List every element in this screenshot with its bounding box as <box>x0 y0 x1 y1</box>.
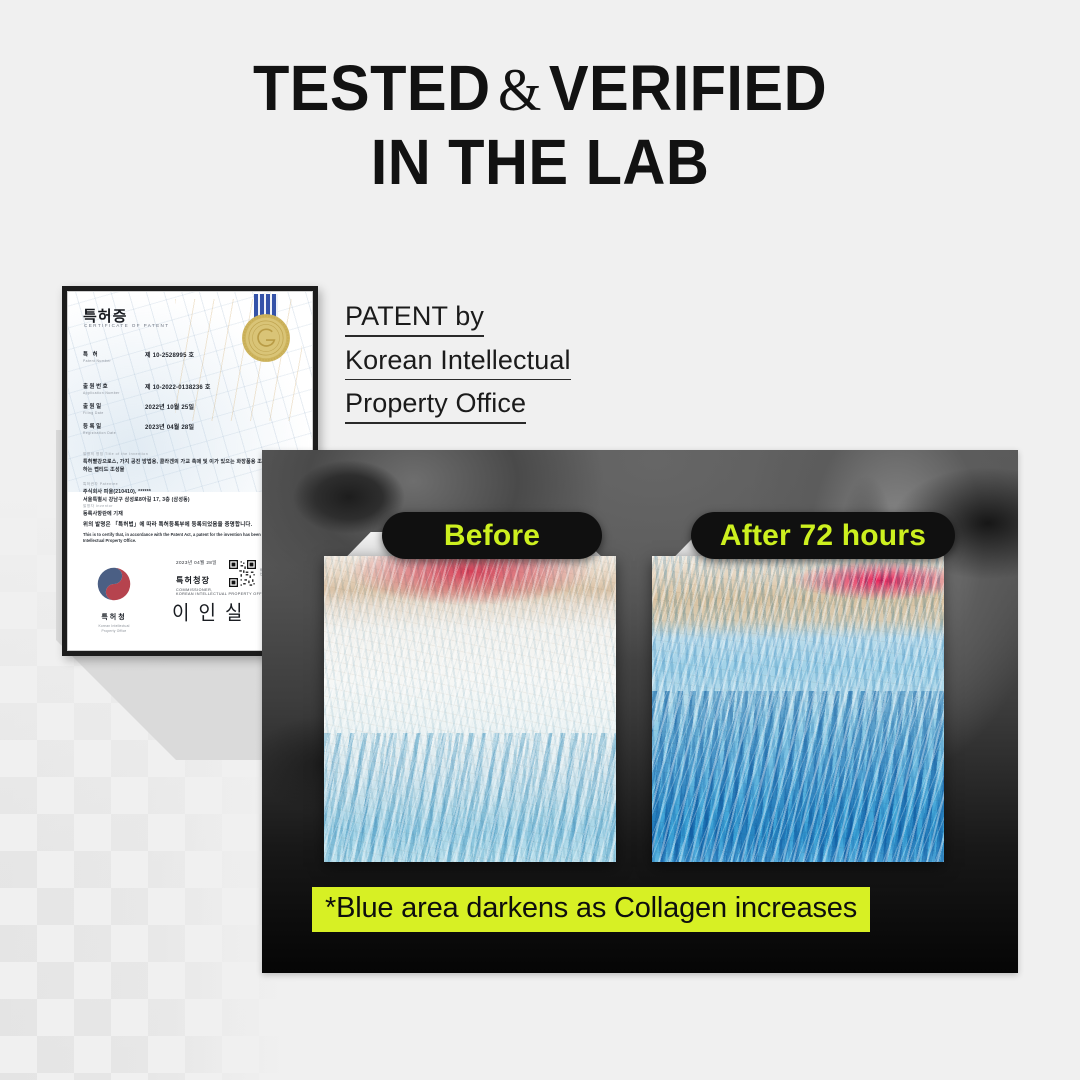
field-label-en: Patent Number <box>83 359 111 363</box>
patent-caption-line-2: Korean Intellectual <box>345 344 571 381</box>
headline-line-2: IN THE LAB <box>38 126 1042 198</box>
kipo-name-english: Korean Intellectual Property Office <box>94 624 134 633</box>
patent-caption: PATENT by Korean Intellectual Property O… <box>345 300 571 431</box>
certificate-field-row: 출원번호 Application Number 제 10-2022-013823… <box>83 382 120 395</box>
gold-seal-icon <box>240 312 292 364</box>
commissioner-title-en-2: KOREAN INTELLECTUAL PROPERTY OFFICE <box>176 592 269 596</box>
field-label-en: Application Number <box>83 391 120 395</box>
field-value-registration-date: 2023년 04월 28일 <box>145 422 194 431</box>
qr-code-icon <box>229 560 256 587</box>
field-label-ko: 등록일 <box>83 422 116 430</box>
headline-line-1: TESTED&VERIFIED <box>38 52 1042 126</box>
patent-caption-text-2: Korean Intellectual <box>345 344 571 376</box>
field-label-ko: 출원번호 <box>83 382 120 390</box>
label-pill-before: Before <box>382 512 602 559</box>
headline-word-verified: VERIFIED <box>549 52 827 124</box>
before-after-photo-panel[interactable]: Before After 72 hours *Blue area darkens… <box>262 450 1018 973</box>
certificate-title-english: CERTIFICATE OF PATENT <box>84 323 169 328</box>
field-label-ko: 특 허 <box>83 350 111 358</box>
label-before-text: Before <box>444 519 540 553</box>
histology-sample-after <box>652 532 944 862</box>
headline: TESTED&VERIFIED IN THE LAB <box>0 52 1080 198</box>
certificate-field-row: 등록일 Registration Date 2023년 04월 28일 <box>83 422 116 435</box>
kipo-logo-block: 특허청 Korean Intellectual Property Office <box>94 564 134 633</box>
certificate-issue-date: 2023년 04월 28일 <box>176 560 217 566</box>
certificate-field-row: 출원일 Filing Date 2022년 10월 25일 <box>83 402 104 415</box>
kipo-name-korean: 특허청 <box>94 612 134 622</box>
sample-tissue-after <box>652 556 944 862</box>
underline-rule <box>345 422 526 424</box>
underline-rule <box>345 379 571 381</box>
patent-caption-line-3: Property Office <box>345 387 526 424</box>
taegeuk-icon <box>94 564 134 604</box>
commissioner-signature: 이인실 <box>172 597 251 625</box>
field-label-en: Filing Date <box>83 411 104 415</box>
collagen-caption-banner: *Blue area darkens as Collagen increases <box>312 887 870 932</box>
field-value-application-number: 제 10-2022-0138236 호 <box>145 382 211 391</box>
collagen-caption-text: *Blue area darkens as Collagen increases <box>325 892 857 924</box>
certificate-field-row: 특 허 Patent Number 제 10-2528995 호 <box>83 350 111 363</box>
field-value-patent-number: 제 10-2528995 호 <box>145 350 194 359</box>
field-label-ko: 출원일 <box>83 402 104 410</box>
label-after-text: After 72 hours <box>720 519 926 553</box>
underline-rule <box>345 335 484 337</box>
patent-caption-text-1: PATENT by <box>345 300 484 332</box>
patent-caption-line-1: PATENT by <box>345 300 484 337</box>
ampersand-glyph: & <box>491 57 549 123</box>
patent-caption-text-3: Property Office <box>345 387 526 419</box>
headline-word-tested: TESTED <box>253 52 491 124</box>
label-pill-after: After 72 hours <box>691 512 955 559</box>
field-label-en: Registration Date <box>83 431 116 435</box>
field-value-filing-date: 2022년 10월 25일 <box>145 402 194 411</box>
histology-sample-before <box>324 532 616 862</box>
sample-tissue-before <box>324 556 616 862</box>
tissue-texture-highlights <box>324 556 616 862</box>
tissue-texture-highlights <box>652 556 944 862</box>
